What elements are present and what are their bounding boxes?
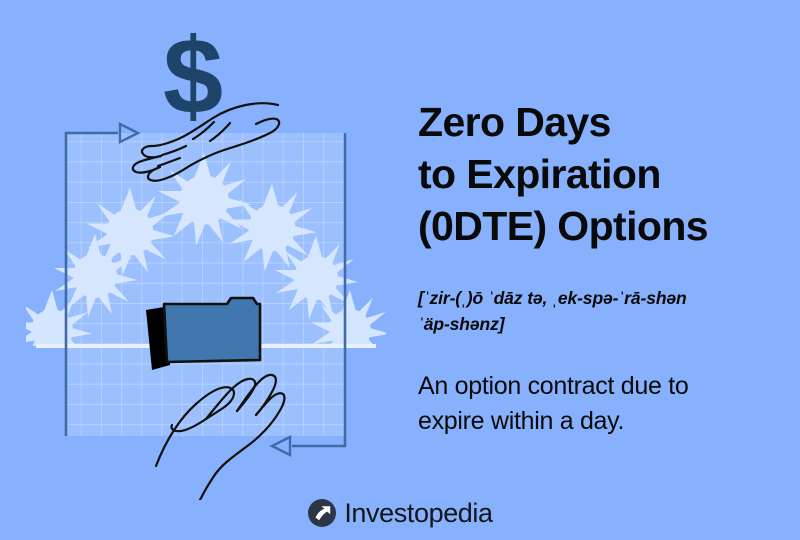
pronunciation-line-1: [ˈzir-(ˌ)ō ˈdāz tə, ˌek-spə-ˈrā-shən — [418, 285, 778, 311]
pronunciation: [ˈzir-(ˌ)ō ˈdāz tə, ˌek-spə-ˈrā-shən ˈäp… — [418, 285, 778, 337]
folder-icon — [146, 298, 260, 370]
investopedia-mark-icon — [307, 498, 337, 528]
title-line-1: Zero Days — [418, 96, 778, 148]
investopedia-logo: Investopedia — [0, 498, 800, 528]
definition-line-1: An option contract due to — [418, 369, 778, 404]
text-column: Zero Days to Expiration (0DTE) Options [… — [418, 96, 778, 439]
infographic-card: $ — [0, 0, 800, 540]
pronunciation-line-2: ˈäp-shənz] — [418, 311, 778, 337]
illustration-panel: $ — [0, 0, 400, 500]
page-title: Zero Days to Expiration (0DTE) Options — [418, 96, 778, 252]
title-line-2: to Expiration — [418, 148, 778, 200]
brand-name: Investopedia — [344, 498, 492, 528]
definition-text: An option contract due to expire within … — [418, 369, 778, 439]
definition-line-2: expire within a day. — [418, 404, 778, 439]
title-line-3: (0DTE) Options — [418, 200, 778, 252]
